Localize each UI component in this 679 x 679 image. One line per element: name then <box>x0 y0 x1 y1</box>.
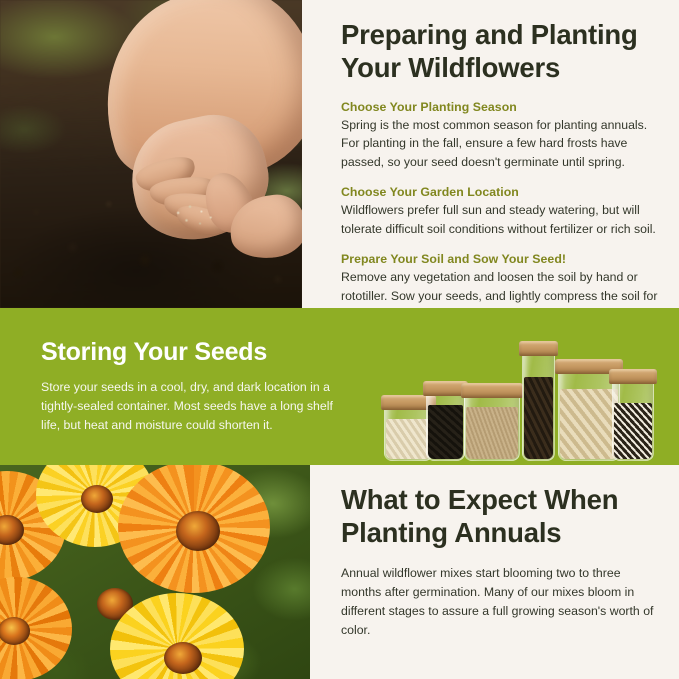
section-preparing-and-planting: Preparing and Planting Your Wildflowers … <box>0 0 679 308</box>
jar-contents <box>466 407 518 459</box>
cork-lid-icon <box>461 383 523 398</box>
expect-text-column: What to Expect When Planting Annuals Ann… <box>341 483 659 640</box>
section-storing-your-seeds: Storing Your Seeds Store your seeds in a… <box>0 308 679 465</box>
daisy-flowers-image <box>0 465 310 679</box>
storing-text-column: Storing Your Seeds Store your seeds in a… <box>41 338 341 436</box>
block-garden-location: Choose Your Garden Location Wildflowers … <box>341 185 663 239</box>
jar-tan-grain <box>464 383 520 461</box>
cork-lid-icon <box>519 341 558 356</box>
flower-center <box>176 511 220 551</box>
flower-center <box>81 485 113 513</box>
hands-planting-seeds-image <box>0 0 302 308</box>
jar-tall-dark-seeds <box>522 341 555 461</box>
expect-body: Annual wildflower mixes start blooming t… <box>341 564 659 641</box>
storing-body: Store your seeds in a cool, dry, and dar… <box>41 378 341 436</box>
jar-contents <box>386 419 431 459</box>
expect-title: What to Expect When Planting Annuals <box>341 483 659 550</box>
jar-sunflower-seeds <box>612 369 654 461</box>
body-garden-location: Wildflowers prefer full sun and steady w… <box>341 201 663 239</box>
body-planting-season: Spring is the most common season for pla… <box>341 116 663 173</box>
page-title: Preparing and Planting Your Wildflowers <box>341 18 663 85</box>
section-what-to-expect: What to Expect When Planting Annuals Ann… <box>0 465 679 679</box>
flower-center <box>0 617 30 645</box>
subheading-planting-season: Choose Your Planting Season <box>341 100 663 114</box>
subheading-garden-location: Choose Your Garden Location <box>341 185 663 199</box>
block-planting-season: Choose Your Planting Season Spring is th… <box>341 100 663 173</box>
subheading-prepare-soil: Prepare Your Soil and Sow Your Seed! <box>341 252 663 266</box>
seed-jars-image <box>382 330 654 465</box>
cork-lid-icon <box>609 369 657 384</box>
jar-contents <box>524 377 553 459</box>
jar-contents <box>614 403 652 459</box>
planting-text-column: Preparing and Planting Your Wildflowers … <box>341 18 663 325</box>
flower-center <box>164 642 202 674</box>
jar-contents <box>560 389 618 459</box>
infographic-page: Preparing and Planting Your Wildflowers … <box>0 0 679 679</box>
jar-black-seeds <box>426 381 465 461</box>
jar-contents <box>428 405 463 459</box>
storing-title: Storing Your Seeds <box>41 338 341 366</box>
